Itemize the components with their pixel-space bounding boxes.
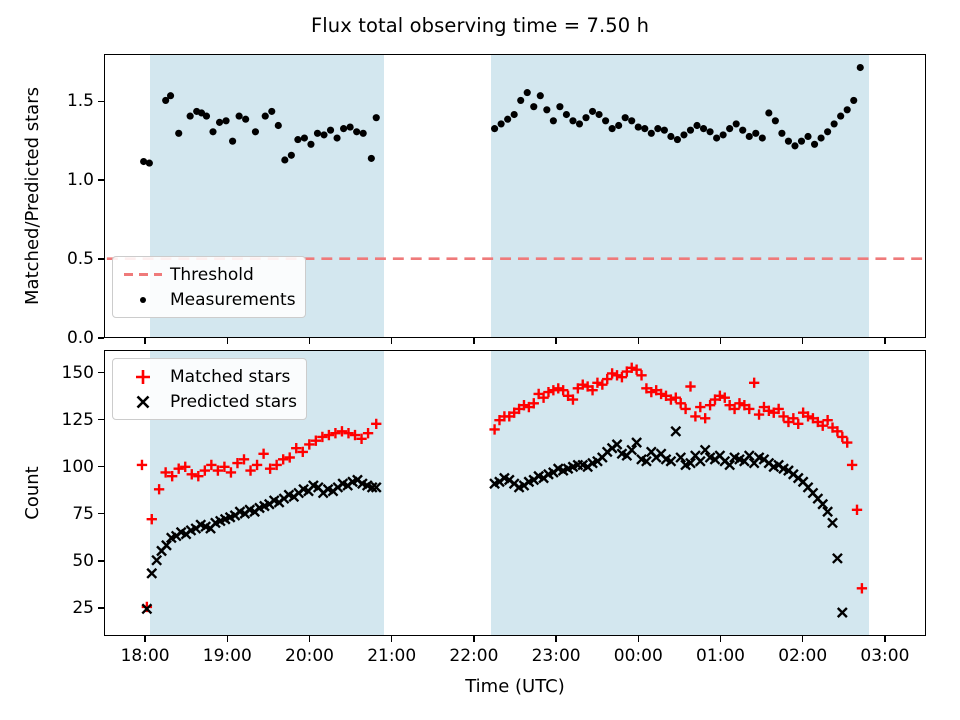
legend-label-matched-stars: Matched stars <box>166 367 290 387</box>
x-tick-mark <box>720 338 722 344</box>
x-tick-mark <box>309 338 311 344</box>
x-tick-mark <box>227 338 229 344</box>
y-tick-mark <box>98 466 104 468</box>
x-tick-label: 02:00 <box>778 646 827 666</box>
x-tick-mark <box>309 636 311 642</box>
y-tick-label: 75 <box>8 504 94 524</box>
x-tick-label: 20:00 <box>285 646 334 666</box>
x-axis-label: Time (UTC) <box>104 676 926 697</box>
legend-label-measurements: Measurements <box>166 290 296 310</box>
x-tick-label: 21:00 <box>367 646 416 666</box>
x-tick-mark <box>144 338 146 344</box>
plus-marker-icon <box>120 366 166 388</box>
y-tick-mark <box>98 372 104 374</box>
y-tick-mark <box>98 179 104 181</box>
y-tick-mark <box>98 101 104 103</box>
y-tick-label: 25 <box>8 598 94 618</box>
legend-item-predicted-stars: Predicted stars <box>120 389 297 414</box>
y-tick-label: 100 <box>8 457 94 477</box>
y-tick-mark <box>98 607 104 609</box>
top-panel-legend: Threshold Measurements <box>112 256 306 318</box>
x-tick-mark <box>227 636 229 642</box>
y-tick-label: 0.0 <box>8 328 94 348</box>
x-tick-label: 19:00 <box>203 646 252 666</box>
x-tick-mark <box>473 636 475 642</box>
x-tick-mark <box>391 636 393 642</box>
x-tick-label: 00:00 <box>614 646 663 666</box>
legend-item-measurements: Measurements <box>120 287 296 312</box>
y-tick-label: 1.5 <box>8 91 94 111</box>
x-tick-mark <box>720 636 722 642</box>
dot-marker-icon <box>120 289 166 311</box>
y-tick-mark <box>98 419 104 421</box>
figure-title: Flux total observing time = 7.50 h <box>0 14 960 37</box>
y-tick-mark <box>98 337 104 339</box>
x-tick-mark <box>884 338 886 344</box>
y-tick-label: 0.5 <box>8 249 94 269</box>
x-tick-mark <box>884 636 886 642</box>
bottom-panel-legend: Matched stars Predicted stars <box>112 358 307 420</box>
x-tick-mark <box>802 338 804 344</box>
y-tick-label: 150 <box>8 363 94 383</box>
series-measurements <box>140 64 864 167</box>
x-tick-label: 18:00 <box>121 646 170 666</box>
dashed-line-icon <box>120 264 166 286</box>
x-tick-label: 01:00 <box>696 646 745 666</box>
x-tick-mark <box>802 636 804 642</box>
y-tick-mark <box>98 513 104 515</box>
x-tick-label: 03:00 <box>860 646 909 666</box>
x-tick-label: 22:00 <box>449 646 498 666</box>
x-tick-mark <box>144 636 146 642</box>
x-tick-label: 23:00 <box>532 646 581 666</box>
x-tick-mark <box>638 636 640 642</box>
cross-marker-icon <box>120 391 166 413</box>
series-predicted-stars <box>142 427 866 635</box>
bottom-panel-ylabel: Count <box>22 466 43 519</box>
legend-label-threshold: Threshold <box>166 265 254 285</box>
x-tick-mark <box>555 636 557 642</box>
legend-label-predicted-stars: Predicted stars <box>166 392 297 412</box>
y-tick-label: 50 <box>8 551 94 571</box>
y-tick-label: 1.0 <box>8 170 94 190</box>
x-tick-mark <box>391 338 393 344</box>
legend-item-matched-stars: Matched stars <box>120 364 297 389</box>
x-tick-mark <box>473 338 475 344</box>
y-tick-mark <box>98 560 104 562</box>
figure-root: Flux total observing time = 7.50 h 0.00.… <box>0 0 960 720</box>
x-tick-mark <box>555 338 557 344</box>
y-tick-mark <box>98 258 104 260</box>
legend-item-threshold: Threshold <box>120 262 296 287</box>
x-tick-mark <box>638 338 640 344</box>
y-tick-label: 125 <box>8 410 94 430</box>
top-panel-ylabel: Matched/Predicted stars <box>22 87 43 305</box>
